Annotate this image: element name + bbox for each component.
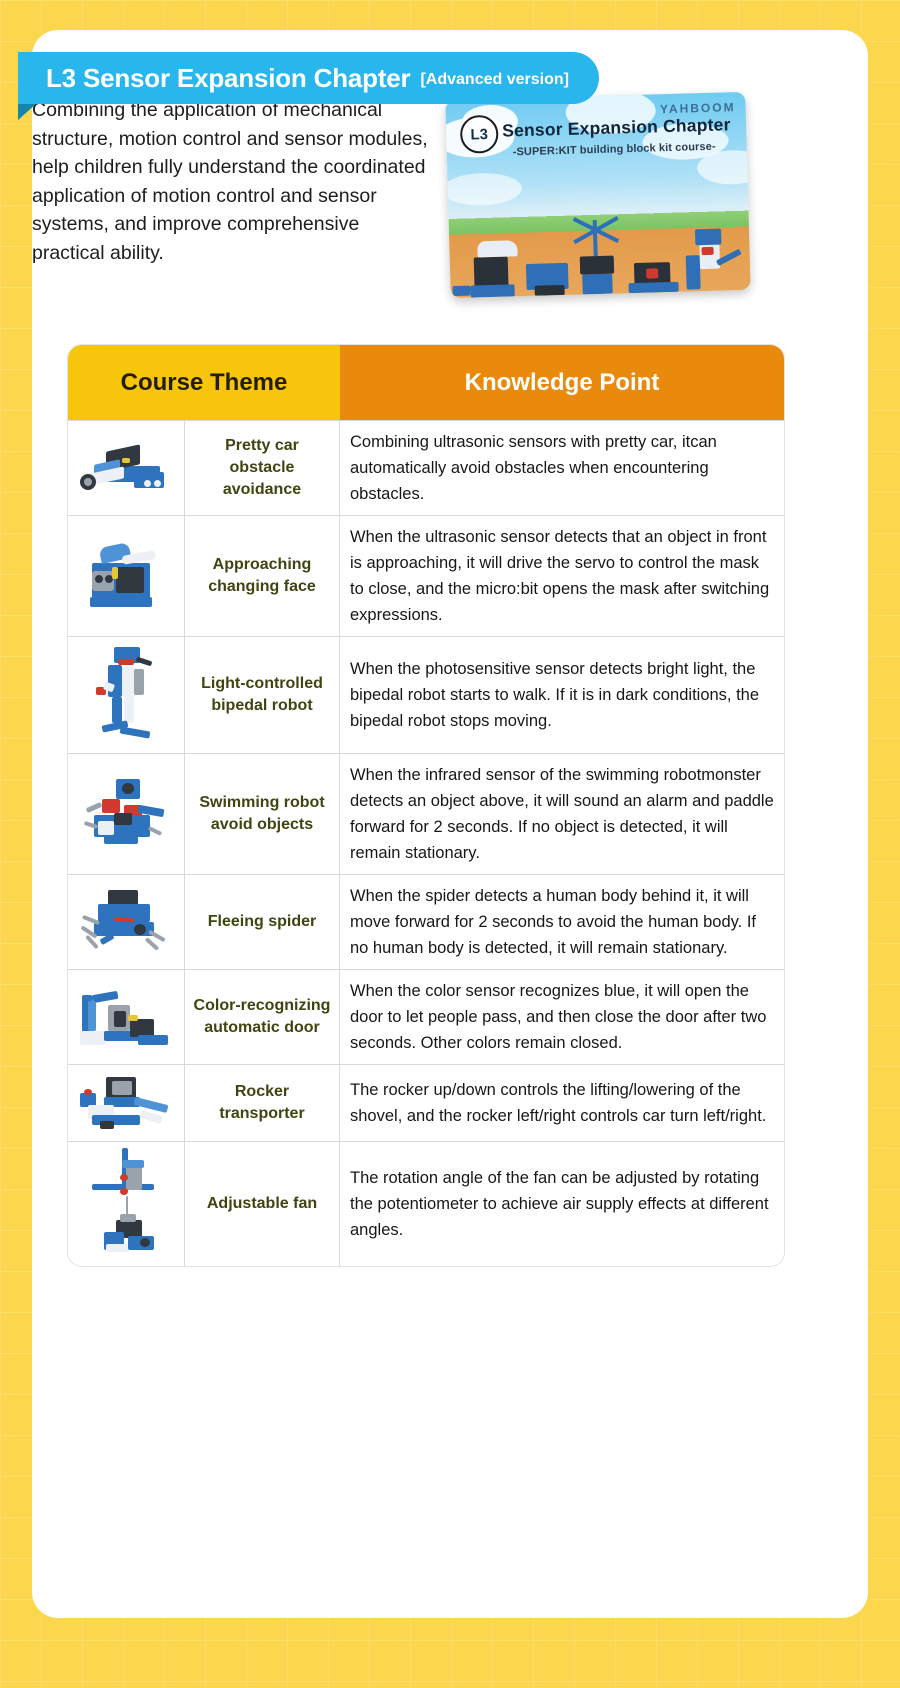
robot-thumbnail-cell [68, 970, 185, 1064]
table-row: Fleeing spider When the spider detects a… [68, 874, 784, 969]
knowledge-point-cell: When the color sensor recognizes blue, i… [340, 970, 784, 1064]
knowledge-point-cell: When the photosensitive sensor detects b… [340, 637, 784, 753]
course-theme-cell: Pretty car obstacle avoidance [185, 421, 340, 515]
course-theme-cell: Approaching changing face [185, 516, 340, 636]
intro-paragraph: Combining the application of mechanical … [32, 96, 432, 267]
knowledge-point-cell: When the infrared sensor of the swimming… [340, 754, 784, 874]
intro-section: Combining the application of mechanical … [32, 96, 804, 294]
bipedal-robot-icon [78, 643, 174, 747]
adjustable-fan-robot-icon [78, 1148, 174, 1260]
title-banner-wrapper: L3 Sensor Expansion Chapter [Advanced ve… [18, 52, 599, 104]
knowledge-point-cell: The rotation angle of the fan can be adj… [340, 1142, 784, 1266]
pretty-car-robot-icon [78, 436, 174, 500]
course-theme-cell: Fleeing spider [185, 875, 340, 969]
knowledge-point-cell: Combining ultrasonic sensors with pretty… [340, 421, 784, 515]
approaching-face-robot-icon [78, 537, 174, 615]
spider-robot-icon [78, 884, 174, 960]
title-banner: L3 Sensor Expansion Chapter [Advanced ve… [18, 52, 599, 104]
course-theme-cell: Light-controlled bipedal robot [185, 637, 340, 753]
page-title: L3 Sensor Expansion Chapter [46, 63, 410, 94]
course-table: Course Theme Knowledge Point P [68, 345, 784, 1266]
automatic-door-robot-icon [78, 979, 174, 1055]
course-theme-cell: Adjustable fan [185, 1142, 340, 1266]
rocker-transporter-robot-icon [78, 1071, 174, 1135]
robot-thumbnail-cell [68, 516, 185, 636]
robot-thumbnail-cell [68, 637, 185, 753]
table-row: Adjustable fan The rotation angle of the… [68, 1141, 784, 1266]
yahboom-brand-logo: YAHBOOM [660, 100, 736, 116]
column-header-knowledge-point: Knowledge Point [340, 345, 784, 420]
banner-fold-decoration [18, 104, 36, 120]
knowledge-point-cell: When the ultrasonic sensor detects that … [340, 516, 784, 636]
course-theme-cell: Rocker transporter [185, 1065, 340, 1141]
robot-thumbnail-cell [68, 421, 185, 515]
course-theme-cell: Swimming robot avoid objects [185, 754, 340, 874]
knowledge-point-cell: When the spider detects a human body beh… [340, 875, 784, 969]
table-row: Light-controlled bipedal robot When the … [68, 636, 784, 753]
robot-thumbnail-cell [68, 1065, 185, 1141]
table-row: Approaching changing face When the ultra… [68, 515, 784, 636]
product-box-robots-illustration [448, 204, 750, 298]
table-row: Pretty car obstacle avoidance Combining … [68, 420, 784, 515]
robot-thumbnail-cell [68, 875, 185, 969]
page-title-version: [Advanced version] [420, 71, 568, 89]
swimming-robot-icon [78, 773, 174, 855]
robot-thumbnail-cell [68, 754, 185, 874]
table-row: Rocker transporter The rocker up/down co… [68, 1064, 784, 1141]
column-header-course-theme: Course Theme [68, 345, 340, 420]
table-header-row: Course Theme Knowledge Point [68, 345, 784, 420]
product-box-image: L3 Sensor Expansion Chapter -SUPER:KIT b… [445, 92, 750, 298]
table-row: Swimming robot avoid objects When the in… [68, 753, 784, 874]
course-theme-cell: Color-recognizing automatic door [185, 970, 340, 1064]
robot-thumbnail-cell [68, 1142, 185, 1266]
knowledge-point-cell: The rocker up/down controls the lifting/… [340, 1065, 784, 1141]
table-row: Color-recognizing automatic door When th… [68, 969, 784, 1064]
